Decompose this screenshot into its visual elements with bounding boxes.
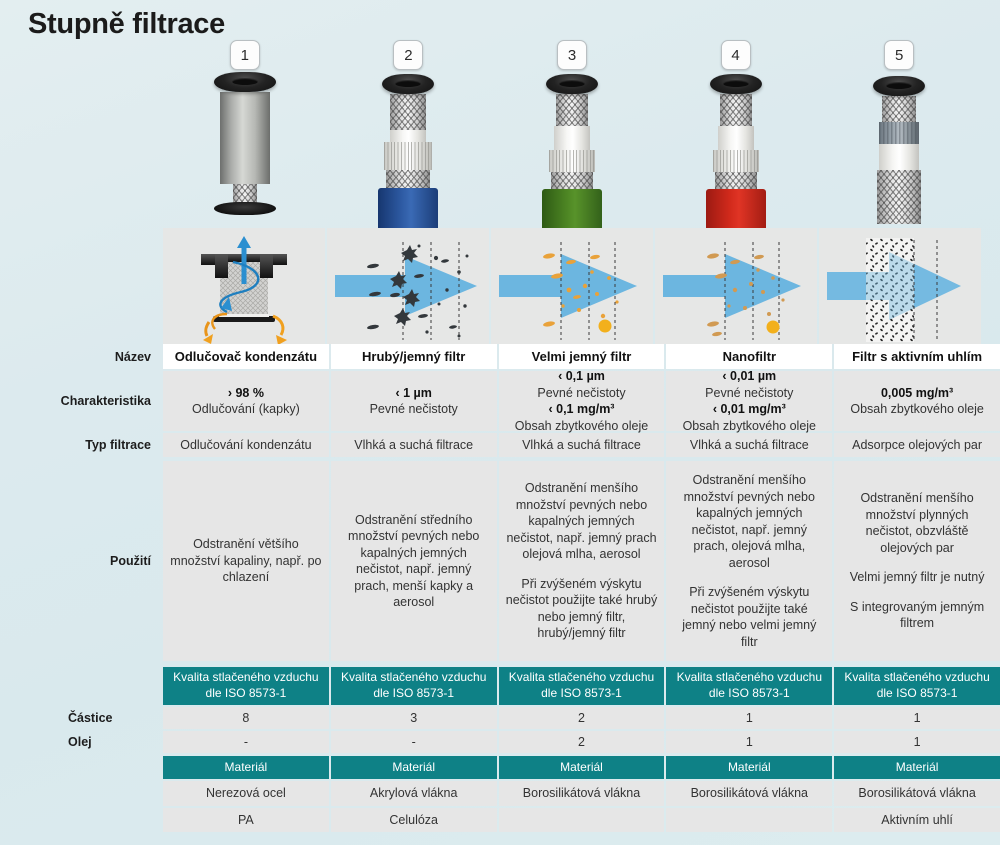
cartridge-pleated-section (549, 150, 595, 172)
product-column-4: 4 (654, 40, 818, 230)
product-column-3: 3 (490, 40, 654, 230)
cartridge-white-mid (554, 126, 590, 150)
table-cell: 1 (834, 707, 1000, 729)
cartridge-mesh-lower (551, 172, 593, 189)
table-row-iso-header: Kvalita stlačeného vzduchu dle ISO 8573-… (0, 667, 1000, 705)
row-label-name: Název (0, 344, 163, 369)
usage-paragraph-2: Velmi jemný filtr je nutný (850, 569, 985, 586)
cartridge-base-red (706, 189, 766, 233)
table-cell (499, 808, 665, 832)
cartridge-pleated-section (384, 142, 432, 170)
diagram-band (163, 228, 981, 344)
char-value-2: ‹ 0,01 mg/m³ (713, 401, 786, 418)
product-column-1: 1 (163, 40, 327, 230)
table-row-filtration-type: Typ filtrace Odlučování kondenzátu Vlhká… (0, 433, 1000, 457)
filter-cartridge-2 (377, 74, 439, 232)
cartridge-white-mid (390, 130, 426, 142)
cartridge-base-green (542, 189, 602, 233)
iso-line-2: dle ISO 8573-1 (541, 686, 622, 702)
cartridge-white-mid (718, 126, 754, 150)
char-desc: Pevné nečistoty (370, 401, 458, 418)
char-desc-2: Obsah zbytkového oleje (683, 418, 816, 435)
char-value: 0,005 mg/m³ (881, 385, 953, 402)
table-cell: ‹ 1 µm Pevné nečistoty (331, 371, 497, 431)
table-cell: Nanofiltr (666, 344, 832, 369)
table-cell: Vlhká a suchá filtrace (499, 433, 665, 457)
table-cell: Odstranění většího množství kapaliny, na… (163, 461, 329, 661)
product-column-2: 2 (327, 40, 491, 230)
iso-line-1: Kvalita stlačeného vzduchu (844, 670, 989, 686)
material-header-cell: Materiál (666, 756, 832, 779)
cartridge-cap-icon (710, 74, 762, 94)
table-cell: 1 (666, 731, 832, 753)
table-row-usage: Použití Odstranění většího množství kapa… (0, 461, 1000, 661)
cartridge-mesh-upper (882, 96, 916, 122)
table-cell: 3 (331, 707, 497, 729)
table-cell: Odstranění středního množství pevných ne… (331, 461, 497, 661)
char-desc-2: Obsah zbytkového oleje (515, 418, 648, 435)
table-cell: Adsorpce olejových par (834, 433, 1000, 457)
step-badge-3: 3 (557, 40, 587, 70)
filter-cartridge-3 (541, 74, 603, 233)
filter-cartridge-5 (868, 76, 930, 224)
usage-paragraph: Odstranění menšího množství pevných nebo… (506, 480, 658, 563)
condensate-separator-diagram (163, 228, 325, 344)
cartridge-mesh-lower (715, 172, 757, 189)
row-label-filtration-type: Typ filtrace (0, 433, 163, 457)
infographic-page: Stupně filtrace 1 2 3 (0, 0, 1000, 845)
step-badge-1: 1 (230, 40, 260, 70)
usage-paragraph-3: S integrovaným jemným filtrem (841, 599, 993, 632)
table-cell: › 98 % Odlučování (kapky) (163, 371, 329, 431)
cartridge-cap-icon (873, 76, 925, 96)
page-title: Stupně filtrace (28, 8, 225, 41)
char-value: ‹ 1 µm (396, 385, 432, 402)
char-value: ‹ 0,1 µm (558, 368, 605, 385)
table-cell: 2 (499, 731, 665, 753)
cartridge-cap-icon (214, 72, 276, 92)
table-cell: Aktivním uhlí (834, 808, 1000, 832)
filter-cartridge-1 (214, 72, 276, 215)
table-cell: Odstranění menšího množství pevných nebo… (666, 461, 832, 661)
table-cell (666, 808, 832, 832)
product-photo-strip: 1 2 3 (163, 40, 981, 230)
usage-paragraph-2: Při zvýšeném výskytu nečistot použijte t… (673, 584, 825, 650)
table-cell: Celulóza (331, 808, 497, 832)
iso-line-1: Kvalita stlačeného vzduchu (677, 670, 822, 686)
iso-header-cell: Kvalita stlačeného vzduchu dle ISO 8573-… (499, 667, 665, 705)
iso-line-2: dle ISO 8573-1 (206, 686, 287, 702)
table-cell: Filtr s aktivním uhlím (834, 344, 1000, 369)
row-label-oil: Olej (0, 731, 163, 753)
usage-paragraph-2: Při zvýšeném výskytu nečistot použijte t… (506, 576, 658, 642)
iso-header-cell: Kvalita stlačeného vzduchu dle ISO 8573-… (163, 667, 329, 705)
cartridge-cap-icon (382, 74, 434, 94)
table-cell: Odstranění menšího množství plynných neč… (834, 461, 1000, 661)
table-cell: - (331, 731, 497, 753)
table-cell: ‹ 0,01 µm Pevné nečistoty ‹ 0,01 mg/m³ O… (666, 371, 832, 431)
row-label-particles: Částice (0, 707, 163, 729)
iso-line-2: dle ISO 8573-1 (709, 686, 790, 702)
very-fine-filter-diagram (491, 228, 653, 344)
table-row-characteristic: Charakteristika › 98 % Odlučování (kapky… (0, 371, 1000, 431)
iso-line-2: dle ISO 8573-1 (373, 686, 454, 702)
table-cell: Odlučování kondenzátu (163, 433, 329, 457)
char-value: ‹ 0,01 µm (722, 368, 776, 385)
table-cell: - (163, 731, 329, 753)
table-cell: Vlhká a suchá filtrace (666, 433, 832, 457)
table-cell: Vlhká a suchá filtrace (331, 433, 497, 457)
cartridge-carbon-band (879, 122, 919, 144)
cartridge-base-seal (214, 202, 276, 215)
step-badge-2: 2 (393, 40, 423, 70)
iso-header-cell: Kvalita stlačeného vzduchu dle ISO 8573-… (666, 667, 832, 705)
cartridge-base-blue (378, 188, 438, 232)
table-cell: PA (163, 808, 329, 832)
cartridge-cap-icon (546, 74, 598, 94)
table-row-particles: Částice 8 3 2 1 1 (0, 707, 1000, 729)
table-cell: Odstranění menšího množství pevných nebo… (499, 461, 665, 661)
material-header-cell: Materiál (163, 756, 329, 779)
material-header-cell: Materiál (331, 756, 497, 779)
table-cell: Borosilikátová vlákna (499, 781, 665, 806)
filter-cartridge-4 (705, 74, 767, 233)
comparison-table: Název Odlučovač kondenzátu Hrubý/jemný f… (0, 344, 1000, 832)
table-cell: Borosilikátová vlákna (666, 781, 832, 806)
row-label-usage: Použití (0, 461, 163, 661)
char-desc: Odlučování (kapky) (192, 401, 300, 418)
table-cell: Hrubý/jemný filtr (331, 344, 497, 369)
table-cell: 2 (499, 707, 665, 729)
cartridge-mesh-upper (720, 94, 752, 126)
material-header-cell: Materiál (499, 756, 665, 779)
product-column-5: 5 (817, 40, 981, 230)
cartridge-mesh-upper (390, 94, 426, 130)
cartridge-white-mid (879, 144, 919, 170)
table-cell: 8 (163, 707, 329, 729)
row-label-characteristic: Charakteristika (0, 371, 163, 431)
char-value: › 98 % (228, 385, 264, 402)
table-cell: 1 (666, 707, 832, 729)
table-cell: Nerezová ocel (163, 781, 329, 806)
char-value-2: ‹ 0,1 mg/m³ (548, 401, 614, 418)
table-row-material-1: Nerezová ocel Akrylová vlákna Borosiliká… (0, 781, 1000, 806)
char-desc: Pevné nečistoty (537, 385, 625, 402)
table-cell: 0,005 mg/m³ Obsah zbytkového oleje (834, 371, 1000, 431)
nanofilter-diagram (655, 228, 817, 344)
table-cell: Akrylová vlákna (331, 781, 497, 806)
iso-header-cell: Kvalita stlačeného vzduchu dle ISO 8573-… (834, 667, 1000, 705)
table-cell: 1 (834, 731, 1000, 753)
char-desc: Obsah zbytkového oleje (850, 401, 983, 418)
table-cell: ‹ 0,1 µm Pevné nečistoty ‹ 0,1 mg/m³ Obs… (499, 371, 665, 431)
step-badge-5: 5 (884, 40, 914, 70)
table-cell: Velmi jemný filtr (499, 344, 665, 369)
usage-paragraph: Odstranění menšího množství pevných nebo… (673, 472, 825, 571)
char-desc: Pevné nečistoty (705, 385, 793, 402)
usage-paragraph: Odstranění menšího množství plynných neč… (841, 490, 993, 556)
step-badge-4: 4 (721, 40, 751, 70)
usage-paragraph: Odstranění středního množství pevných ne… (338, 512, 490, 611)
iso-line-1: Kvalita stlačeného vzduchu (509, 670, 654, 686)
cartridge-mesh-upper (556, 94, 588, 126)
cartridge-mesh-lower (386, 170, 430, 188)
row-label-spacer (0, 756, 163, 779)
table-row-name: Název Odlučovač kondenzátu Hrubý/jemný f… (0, 344, 1000, 369)
cartridge-mesh-lower (877, 170, 921, 224)
cartridge-steel-body (220, 92, 270, 184)
table-cell: Odlučovač kondenzátu (163, 344, 329, 369)
coarse-fine-filter-diagram (327, 228, 489, 344)
iso-line-1: Kvalita stlačeného vzduchu (341, 670, 486, 686)
iso-line-2: dle ISO 8573-1 (877, 686, 958, 702)
table-row-oil: Olej - - 2 1 1 (0, 731, 1000, 753)
usage-paragraph: Odstranění většího množství kapaliny, na… (170, 536, 322, 586)
table-cell: Borosilikátová vlákna (834, 781, 1000, 806)
iso-header-cell: Kvalita stlačeného vzduchu dle ISO 8573-… (331, 667, 497, 705)
cartridge-pleated-section (713, 150, 759, 172)
iso-line-1: Kvalita stlačeného vzduchu (173, 670, 318, 686)
material-header-cell: Materiál (834, 756, 1000, 779)
row-label-spacer (0, 781, 163, 806)
activated-carbon-filter-diagram (819, 228, 981, 344)
table-row-material-2: PA Celulóza Aktivním uhlí (0, 808, 1000, 832)
row-label-spacer (0, 667, 163, 705)
row-label-spacer (0, 808, 163, 832)
table-row-material-header: Materiál Materiál Materiál Materiál Mate… (0, 756, 1000, 779)
